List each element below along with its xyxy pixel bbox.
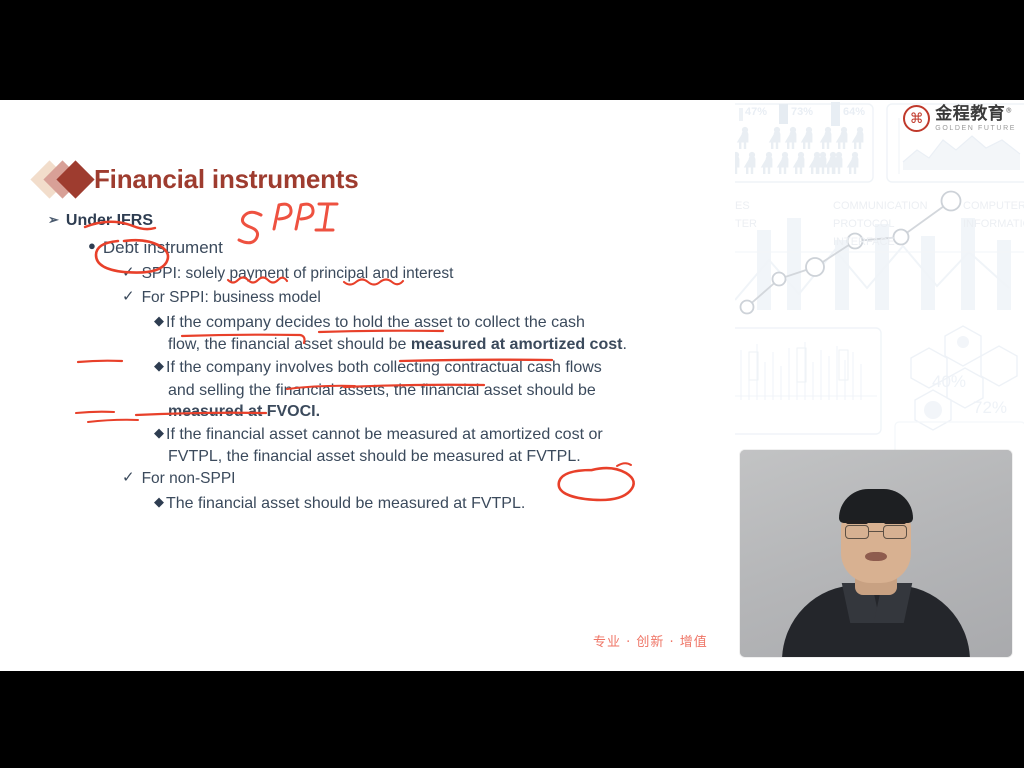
outline-text: If the company decides to hold the asset…	[166, 312, 585, 333]
slide-title-row: Financial instruments	[36, 156, 359, 202]
infographic-caption-es: ES	[735, 200, 750, 212]
outline-item-hold-to-collect: ◆ If the company decides to hold the ass…	[154, 312, 716, 333]
brand-text-block: 金程教育® GOLDEN FUTURE	[935, 106, 1016, 132]
brand-name-cn-text: 金程教育	[935, 104, 1005, 124]
outline-continuation-selling: and selling the financial assets, the fi…	[168, 382, 716, 400]
infographic-caption-interface: INTERFACE	[833, 236, 895, 248]
outline-text: FVTPL, the financial asset should be mea…	[168, 448, 581, 465]
screen-root: Financial instruments ➢ Under IFRS ● Deb…	[0, 0, 1024, 768]
outline-item-for-non-sppi: ✓ For non-SPPI	[122, 469, 716, 490]
infographic-caption-communication: COMMUNICATION	[833, 200, 928, 212]
check-bullet-icon: ✓	[122, 469, 135, 487]
outline-continuation-fvoci: measured at FVOCI.	[168, 403, 716, 421]
diamond-bullet-icon: ◆	[154, 312, 164, 331]
presenter-mouth	[865, 552, 887, 561]
outline-text: The financial asset should be measured a…	[166, 493, 525, 514]
title-diamond-decoration	[36, 159, 92, 199]
diamond-bullet-icon: ◆	[154, 357, 164, 376]
outline-text: and selling the financial assets, the fi…	[168, 382, 596, 399]
diamond-bullet-icon: ◆	[154, 424, 164, 443]
page-title: Financial instruments	[94, 164, 359, 195]
infographic-percent-1: 47%	[745, 106, 767, 118]
infographic-caption-protocol: PROTOCOL	[833, 218, 895, 230]
seal-icon	[903, 105, 930, 132]
outline-item-cannot-be-measured: ◆ If the financial asset cannot be measu…	[154, 424, 716, 445]
outline-text: SPPI: solely payment of principal and in…	[142, 264, 454, 285]
outline-text: If the company involves both collecting …	[166, 357, 602, 378]
infographic-percent-3: 64%	[843, 106, 865, 118]
arrow-bullet-icon: ➢	[48, 210, 59, 230]
outline-continuation-amortized-cost: flow, the financial asset should be meas…	[168, 336, 716, 354]
outline-item-non-sppi-fvtpl: ◆ The financial asset should be measured…	[154, 493, 716, 514]
trademark-icon: ®	[1005, 106, 1013, 114]
infographic-hex-percent-2: 72%	[973, 398, 1007, 418]
dot-bullet-icon: ●	[88, 237, 96, 255]
brand-logo: 金程教育® GOLDEN FUTURE	[903, 105, 1016, 132]
outline-text: Debt instrument	[103, 237, 223, 260]
outline-item-collect-and-sell: ◆ If the company involves both collectin…	[154, 357, 716, 378]
outline-text: For non-SPPI	[142, 469, 236, 490]
outline-text: flow, the financial asset should be	[168, 336, 411, 353]
letterbox-bottom	[0, 671, 1024, 768]
glasses-bridge	[869, 531, 883, 532]
letterbox-top	[0, 0, 1024, 100]
infographic-percent-2: 73%	[791, 106, 813, 118]
outline-item-business-model: ✓ For SPPI: business model	[122, 288, 716, 309]
presentation-slide: Financial instruments ➢ Under IFRS ● Deb…	[0, 100, 735, 671]
glasses-lens-left	[845, 525, 869, 539]
check-bullet-icon: ✓	[122, 288, 135, 306]
presenter-brow-right	[884, 520, 906, 524]
infographic-hex-percent-1: 40%	[932, 372, 966, 392]
outline-item-debt-instrument: ● Debt instrument	[88, 237, 716, 260]
outline-text: If the financial asset cannot be measure…	[166, 424, 603, 445]
check-bullet-icon: ✓	[122, 264, 135, 282]
outline-text: For SPPI: business model	[142, 288, 321, 309]
infographic-caption-computer: COMPUTER	[963, 200, 1024, 212]
brand-name-cn: 金程教育®	[935, 106, 1016, 123]
outline-text-tail: .	[622, 336, 626, 353]
outline-continuation-fvtpl: FVTPL, the financial asset should be mea…	[168, 448, 716, 466]
outline-text: Under IFRS	[66, 210, 153, 231]
outline-item-under-ifrs: ➢ Under IFRS	[48, 210, 716, 231]
diamond-bullet-icon: ◆	[154, 493, 164, 512]
slide-outline: ➢ Under IFRS ● Debt instrument ✓ SPPI: s…	[36, 210, 716, 517]
slide-stage: Financial instruments ➢ Under IFRS ● Deb…	[0, 100, 1024, 671]
infographic-caption-ter: TER	[735, 218, 757, 230]
outline-text-bold: measured at amortized cost	[411, 336, 623, 353]
outline-item-sppi-definition: ✓ SPPI: solely payment of principal and …	[122, 264, 716, 285]
sidebar-panel: 47% 73% 64% ES TER COMMUNICATION PROTOCO…	[735, 100, 1024, 671]
infographic-caption-information: INFORMATION	[963, 218, 1024, 230]
brand-name-en: GOLDEN FUTURE	[935, 125, 1016, 132]
brand-tagline: 专业 · 创新 · 增值	[593, 631, 708, 650]
outline-text-bold: measured at FVOCI.	[168, 403, 320, 420]
glasses-lens-right	[883, 525, 907, 539]
presenter-brow-left	[846, 520, 868, 524]
presenter-video-panel[interactable]	[740, 450, 1012, 657]
glasses-icon	[845, 525, 907, 540]
